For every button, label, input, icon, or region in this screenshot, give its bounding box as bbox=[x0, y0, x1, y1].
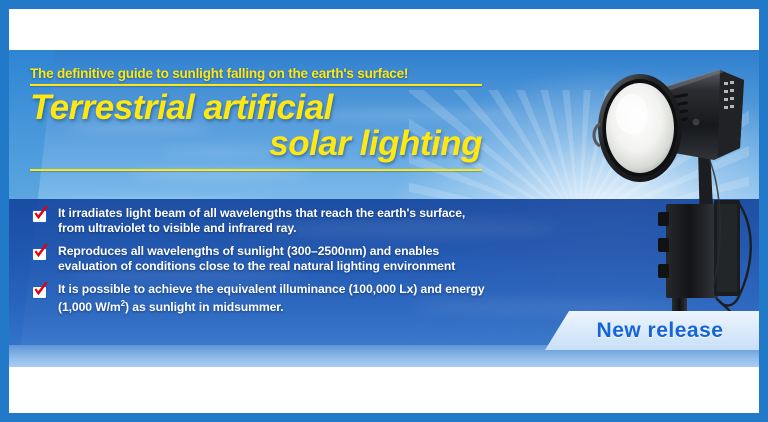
red-checkmark-icon bbox=[32, 284, 47, 299]
solar-simulator-lamp-image bbox=[588, 52, 764, 345]
divider-top bbox=[30, 84, 482, 86]
page-title: Terrestrial artificial solar lighting bbox=[30, 90, 490, 162]
title-line-1: Terrestrial artificial bbox=[30, 88, 333, 127]
list-item-label: It irradiates light beam of all waveleng… bbox=[58, 206, 465, 235]
status-badge: New release bbox=[545, 311, 759, 350]
title-line-2: solar lighting bbox=[30, 126, 490, 162]
product-banner: The definitive guide to sunlight falling… bbox=[0, 0, 768, 422]
list-item: It irradiates light beam of all waveleng… bbox=[32, 206, 592, 235]
bottom-white-band bbox=[9, 367, 759, 413]
red-checkmark-icon bbox=[32, 246, 47, 261]
list-item-label: It is possible to achieve the equivalent… bbox=[58, 282, 485, 314]
divider-bottom bbox=[30, 169, 482, 171]
list-item: It is possible to achieve the equivalent… bbox=[32, 282, 592, 314]
list-item-line-1: It is possible to achieve the equivalent… bbox=[58, 282, 485, 296]
top-white-band bbox=[9, 9, 759, 50]
list-item-line-2-pre: (1,000 W/m bbox=[58, 300, 121, 314]
headline-block: The definitive guide to sunlight falling… bbox=[30, 66, 490, 171]
list-item: Reproduces all wavelengths of sunlight (… bbox=[32, 244, 592, 273]
cloud-streak bbox=[129, 170, 309, 179]
list-item-label: Reproduces all wavelengths of sunlight (… bbox=[58, 244, 455, 273]
kicker-text: The definitive guide to sunlight falling… bbox=[30, 66, 490, 81]
list-item-line-2-post: ) as sunlight in midsummer. bbox=[125, 300, 283, 314]
feature-list: It irradiates light beam of all waveleng… bbox=[32, 206, 592, 323]
badge-label: New release bbox=[581, 319, 724, 343]
red-checkmark-icon bbox=[32, 208, 47, 223]
